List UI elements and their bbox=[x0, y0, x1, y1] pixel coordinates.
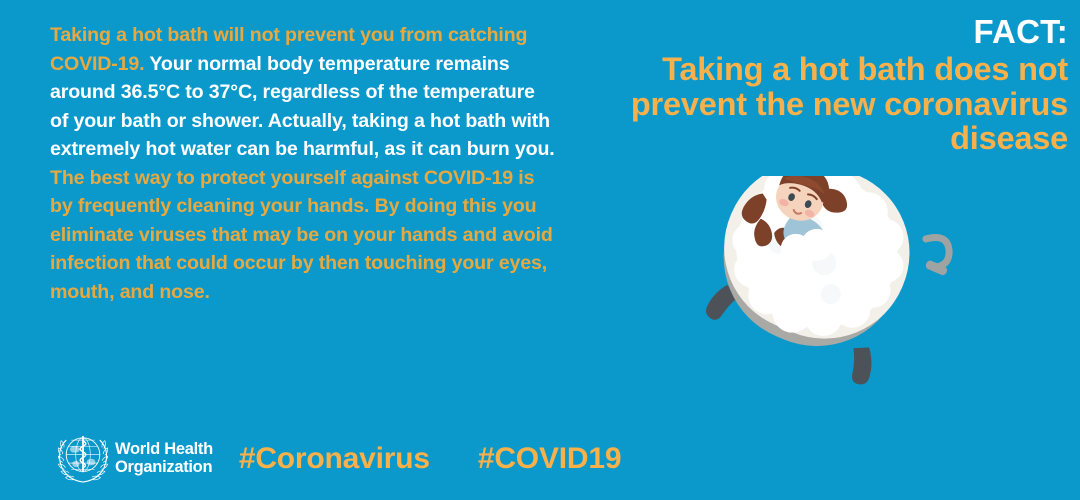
paragraph-1: Taking a hot bath will not prevent you f… bbox=[50, 24, 555, 160]
footer: World Health Organization #Coronavirus #… bbox=[55, 430, 621, 486]
hashtag-group: #Coronavirus #COVID19 bbox=[239, 442, 621, 476]
woman-in-bathtub-illustration bbox=[700, 176, 1030, 466]
fact-label: FACT: bbox=[548, 14, 1068, 50]
who-logo: World Health Organization bbox=[55, 430, 213, 486]
body-copy-block: Taking a hot bath will not prevent you f… bbox=[50, 21, 555, 306]
who-wordmark: World Health Organization bbox=[115, 440, 213, 476]
who-covid-mythbuster-poster: Taking a hot bath will not prevent you f… bbox=[0, 0, 1080, 500]
hashtag-covid19[interactable]: #COVID19 bbox=[478, 442, 621, 476]
hashtag-coronavirus[interactable]: #Coronavirus bbox=[239, 442, 430, 476]
headline-block: FACT: Taking a hot bath does not prevent… bbox=[548, 14, 1068, 156]
who-line-1: World Health bbox=[115, 440, 213, 458]
who-emblem-icon bbox=[55, 430, 111, 486]
who-line-2: Organization bbox=[115, 458, 213, 476]
paragraph-2: The best way to protect yourself against… bbox=[50, 164, 555, 307]
fact-statement: Taking a hot bath does not prevent the n… bbox=[548, 52, 1068, 156]
